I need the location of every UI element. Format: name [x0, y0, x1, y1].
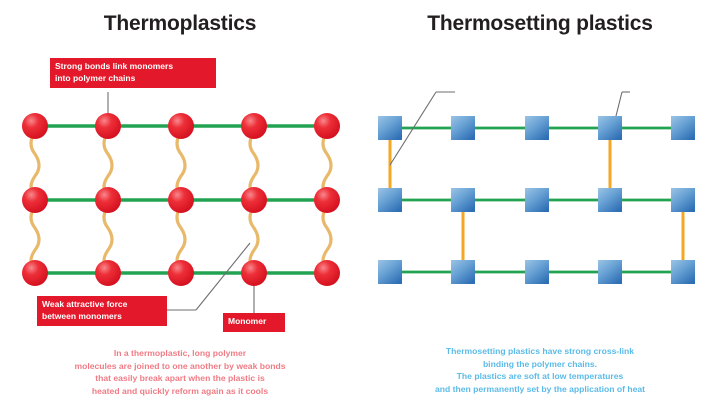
monomer-node	[451, 260, 475, 284]
monomer-node	[598, 188, 622, 212]
monomer-node	[168, 260, 194, 286]
thermosetting-panel: Thermosetting plastics	[360, 0, 720, 419]
monomer-node	[22, 187, 48, 213]
monomer-node	[671, 260, 695, 284]
monomer-node	[525, 116, 549, 140]
thermoplastics-panel: Thermoplastics	[0, 0, 360, 419]
monomer-node	[525, 188, 549, 212]
monomer-node	[168, 113, 194, 139]
monomer-node	[451, 188, 475, 212]
monomer-node	[241, 187, 267, 213]
monomer-node	[22, 113, 48, 139]
monomer-node	[378, 116, 402, 140]
monomer-node	[95, 187, 121, 213]
monomer-node	[378, 188, 402, 212]
monomer-node	[378, 260, 402, 284]
label-monomer-left: Monomer	[223, 313, 285, 332]
monomer-node	[168, 187, 194, 213]
label-strong-bonds: Strong bonds link monomers into polymer …	[50, 58, 216, 88]
monomer-node	[95, 260, 121, 286]
monomer-node	[314, 187, 340, 213]
monomer-node	[598, 116, 622, 140]
monomer-node	[598, 260, 622, 284]
monomer-node	[241, 113, 267, 139]
monomer-node	[22, 260, 48, 286]
thermoplastics-caption: In a thermoplastic, long polymer molecul…	[20, 347, 340, 397]
monomer-node	[314, 260, 340, 286]
monomer-node	[95, 113, 121, 139]
diagram-canvas: Thermoplastics	[0, 0, 720, 419]
monomer-node	[671, 116, 695, 140]
monomer-node	[451, 116, 475, 140]
label-weak-attractive-force: Weak attractive force between monomers	[37, 296, 167, 326]
monomer-node	[525, 260, 549, 284]
thermosetting-caption: Thermosetting plastics have strong cross…	[380, 345, 700, 395]
monomer-node	[241, 260, 267, 286]
monomer-node	[671, 188, 695, 212]
monomer-node	[314, 113, 340, 139]
